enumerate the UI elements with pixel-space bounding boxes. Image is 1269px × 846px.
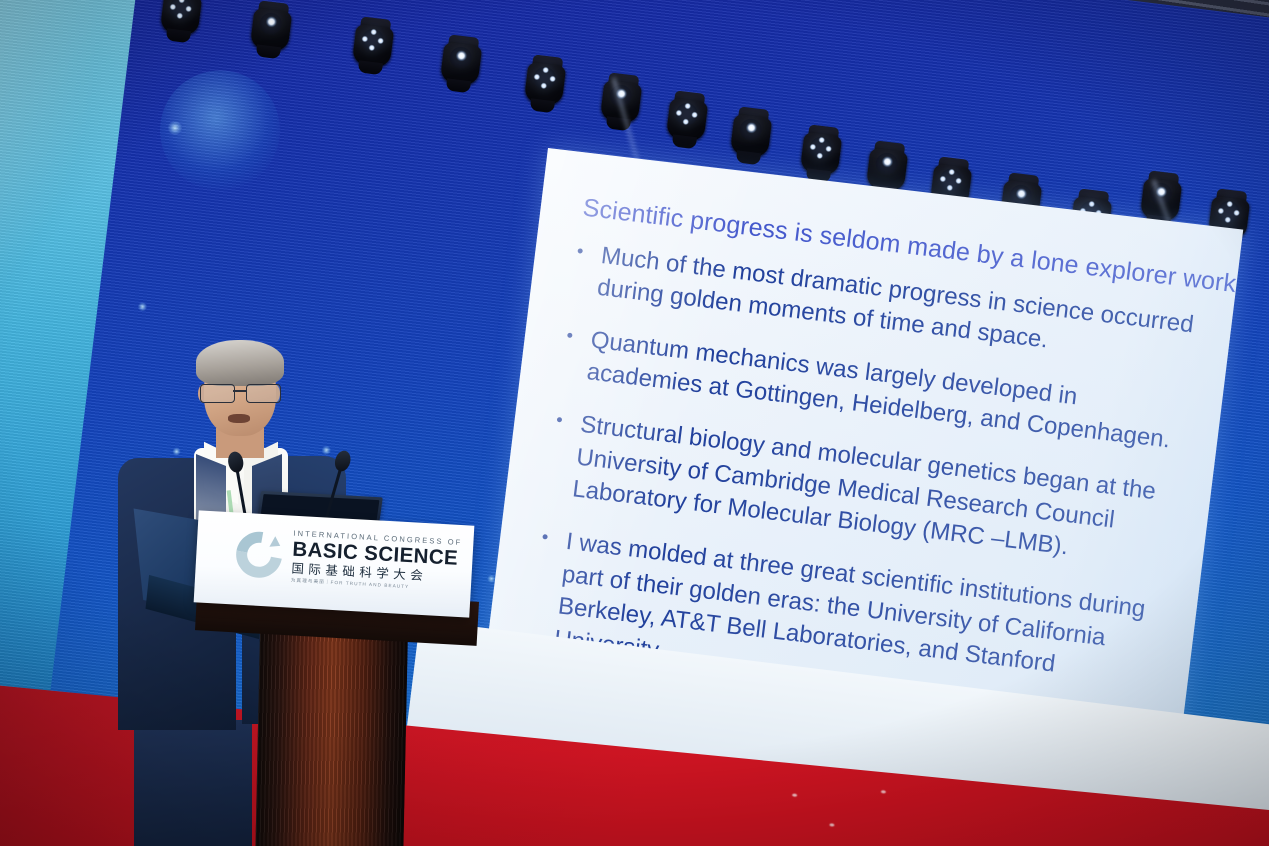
carpet-fleck (792, 793, 797, 796)
circular-arrow-logo-icon (235, 530, 283, 578)
stage-light-fixture (727, 106, 776, 167)
light-lens-icon (1216, 200, 1241, 225)
stage-light-fixture (521, 54, 570, 115)
light-lens-icon (938, 168, 963, 193)
stage-photo: Scientific progress is seldom made by a … (0, 0, 1269, 846)
speaker-hair (196, 340, 284, 386)
light-lens-icon (674, 102, 699, 127)
stage-light-fixture (437, 34, 486, 95)
light-lens-icon (168, 0, 193, 20)
congress-logo: INTERNATIONAL CONGRESS OF BASIC SCIENCE … (234, 517, 473, 602)
carpet-fleck (829, 823, 834, 826)
light-lens-icon (808, 136, 833, 161)
carpet-fleck (881, 790, 886, 793)
light-lens-icon (360, 28, 385, 53)
stage-light-fixture (247, 0, 296, 60)
light-lens-icon (258, 12, 283, 37)
stage-light-fixture (349, 16, 398, 77)
logo-wordmark: INTERNATIONAL CONGRESS OF BASIC SCIENCE … (291, 530, 473, 593)
eyeglasses-icon (198, 384, 282, 401)
light-lens-icon (738, 118, 763, 143)
stage-light-fixture (797, 124, 846, 185)
stage-light-fixture (663, 90, 712, 151)
stage-light-fixture (157, 0, 206, 44)
speaker-legs (134, 720, 252, 846)
light-lens-icon (874, 152, 899, 177)
light-lens-icon (532, 66, 557, 91)
speaker-mouth (228, 414, 250, 423)
light-particle (137, 302, 147, 312)
light-lens-icon (448, 46, 473, 71)
